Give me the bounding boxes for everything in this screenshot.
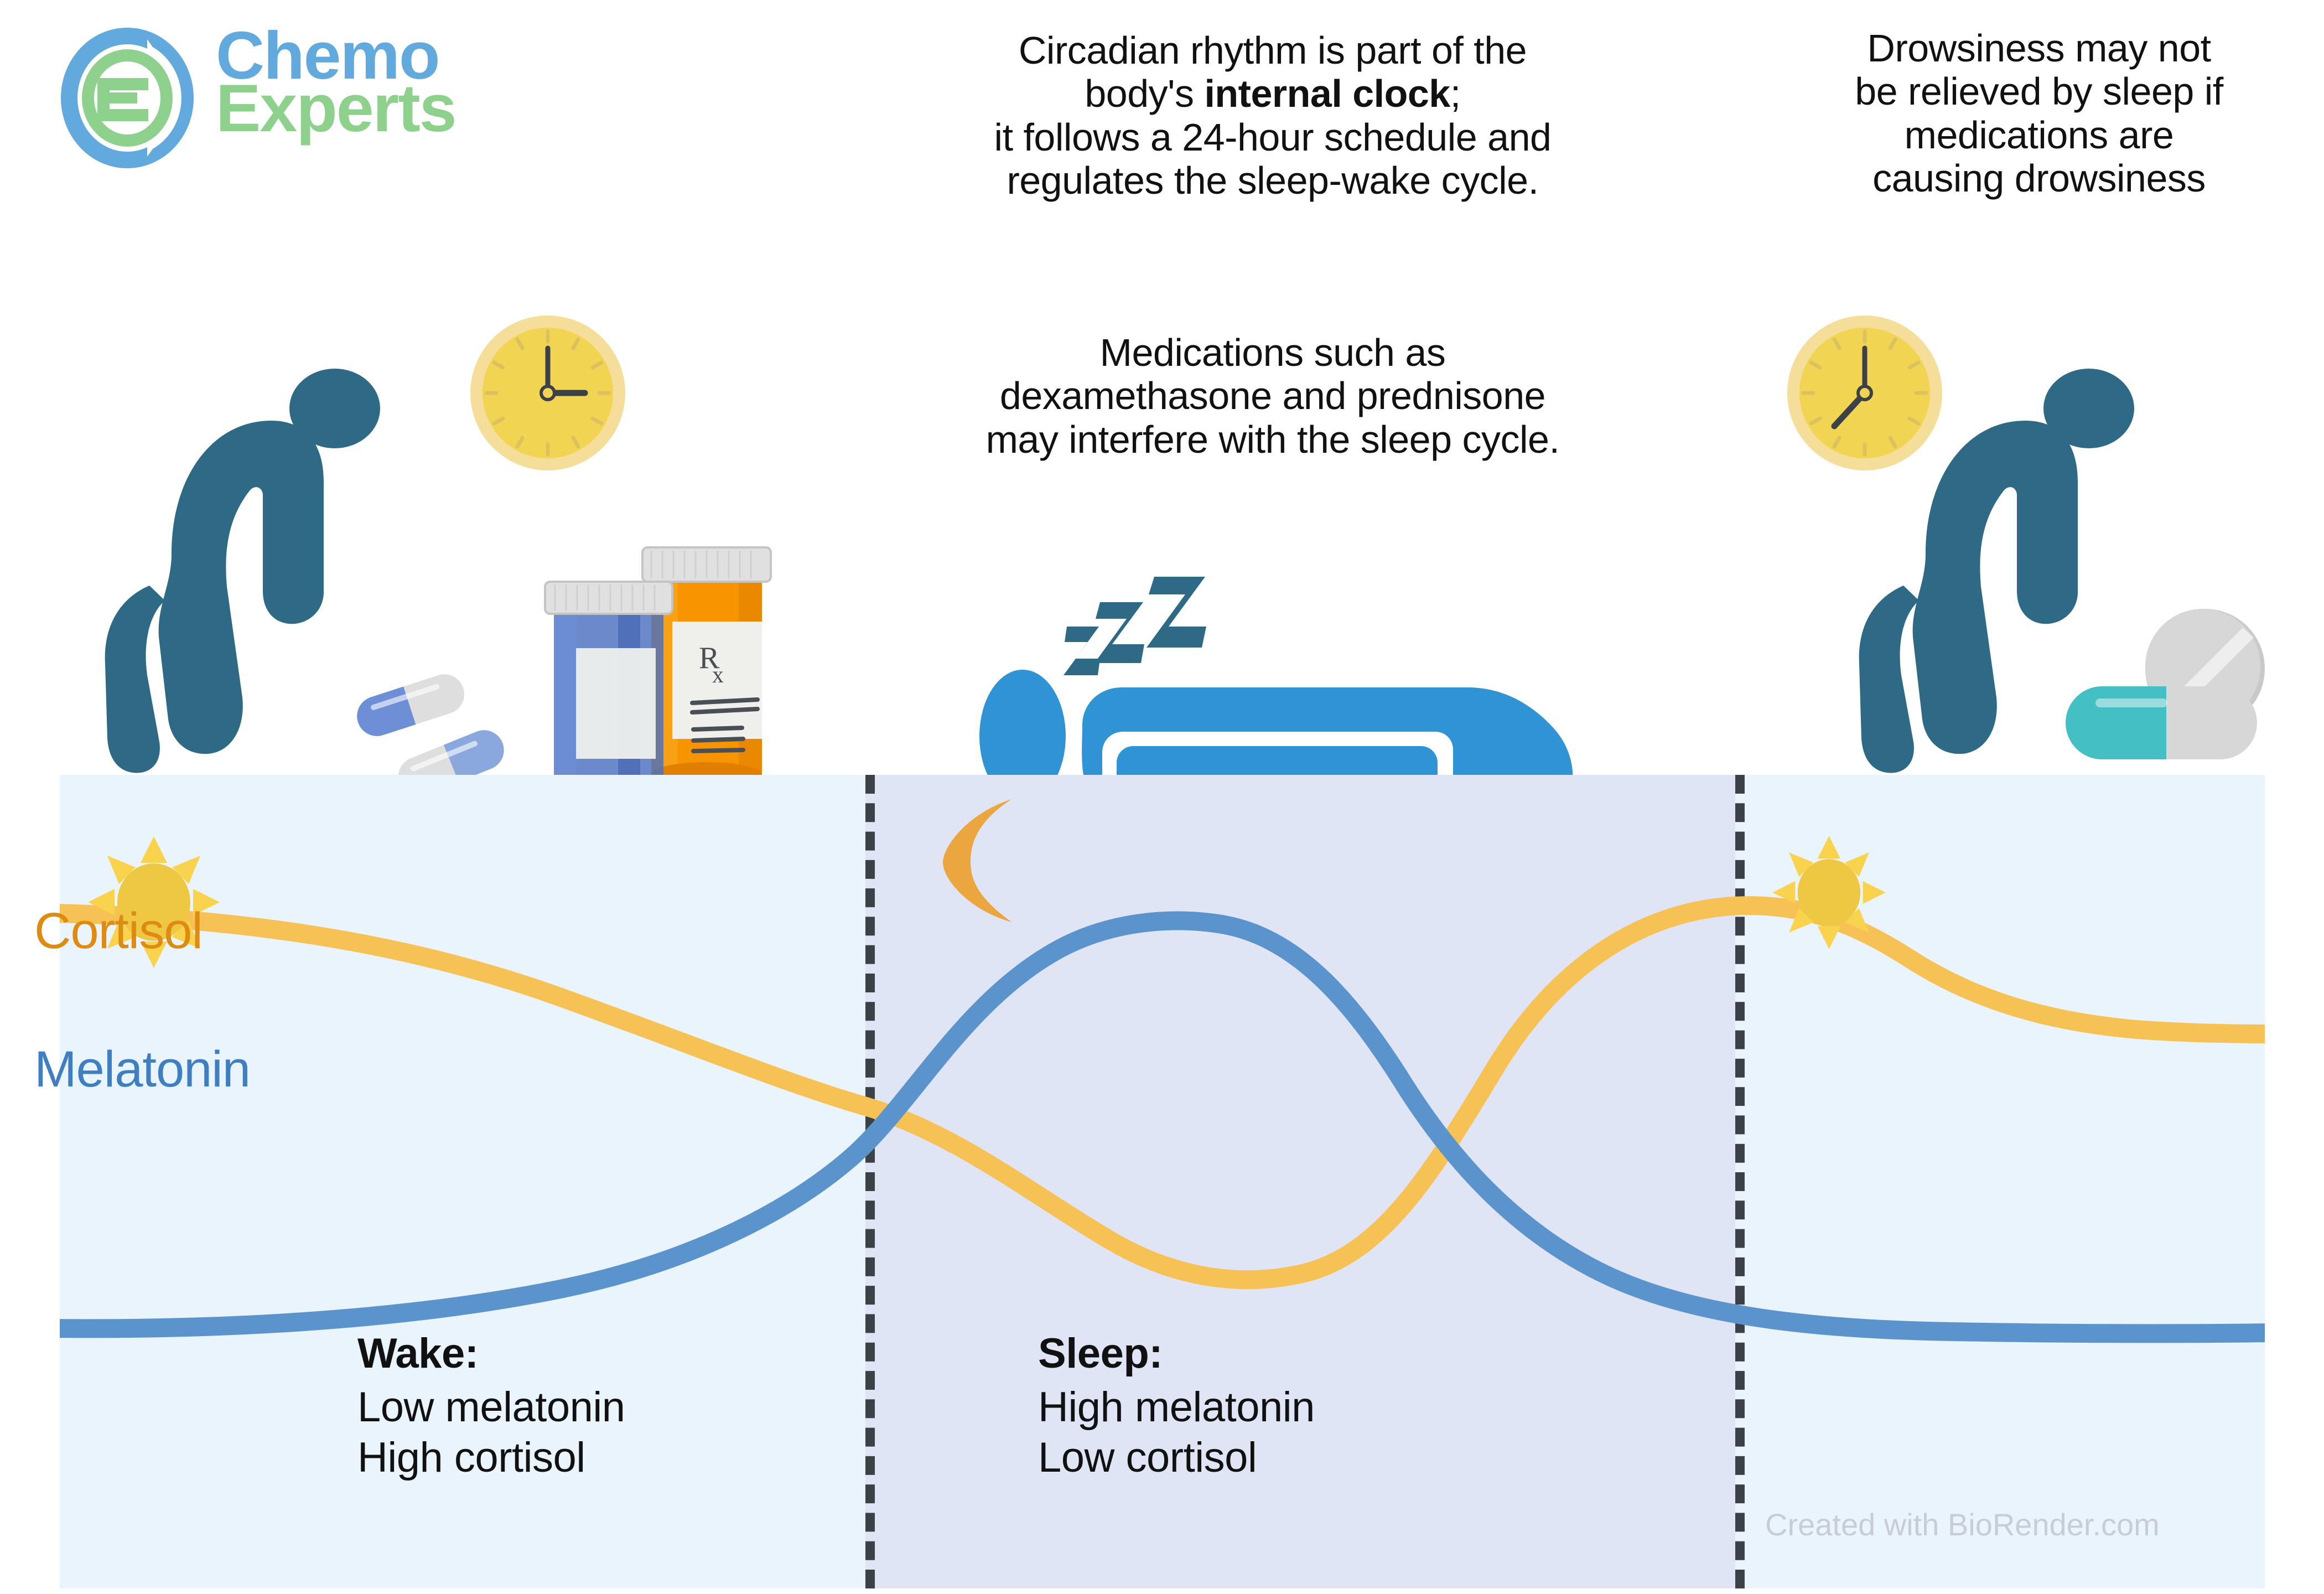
- wake-title: Wake:: [357, 1328, 625, 1379]
- header-paragraph-medications: Medications such as dexamethasone and pr…: [852, 331, 1693, 461]
- header-emphasis-internal-clock: internal clock: [1204, 72, 1450, 115]
- wake-line-1: Low melatonin: [357, 1382, 625, 1432]
- legend-label-melatonin: Melatonin: [34, 1041, 250, 1099]
- teal-white-capsule-icon: [2066, 686, 2257, 759]
- sleeping-person-icon: [974, 576, 1599, 808]
- logo-line-experts: Experts: [216, 79, 456, 138]
- sleep-title: Sleep:: [1038, 1328, 1315, 1379]
- header-line: body's internal clock;: [852, 72, 1693, 115]
- chemoexperts-ce-monogram-icon: [44, 25, 210, 174]
- header-line: Drowsiness may not: [1754, 27, 2324, 70]
- header-line: Medications such as: [852, 331, 1693, 374]
- legend-label-cortisol: Cortisol: [34, 902, 203, 960]
- header-line-post: ;: [1450, 72, 1461, 115]
- sleep-line-2: Low cortisol: [1038, 1432, 1315, 1483]
- crescent-moon-icon: [928, 797, 1034, 924]
- cortisol-curve: [60, 905, 2265, 1280]
- sun-icon: [1770, 833, 1889, 952]
- sleep-line-1: High melatonin: [1038, 1382, 1315, 1432]
- header-line: regulates the sleep-wake cycle.: [852, 159, 1693, 202]
- header-paragraph-drowsiness: Drowsiness may not be relieved by sleep …: [1754, 27, 2324, 200]
- header-line: may interfere with the sleep cycle.: [852, 418, 1693, 461]
- header-line: causing drowsiness: [1754, 157, 2324, 200]
- wake-line-2: High cortisol: [357, 1432, 625, 1483]
- header-line: medications are: [1754, 113, 2324, 157]
- clock-icon: [1784, 313, 1945, 473]
- svg-text:x: x: [712, 663, 724, 688]
- zzz-sleep-icon: [1064, 577, 1206, 675]
- header-line: Circadian rhythm is part of the: [852, 29, 1693, 72]
- biorender-credit: Created with BioRender.com: [1765, 1507, 2160, 1543]
- header-paragraph-circadian: Circadian rhythm is part of the body's i…: [852, 29, 1693, 203]
- wake-state-block: Wake: Low melatonin High cortisol: [357, 1328, 625, 1483]
- header-line: dexamethasone and prednisone: [852, 374, 1693, 417]
- header-line: be relieved by sleep if: [1754, 70, 2324, 113]
- clock-icon: [468, 313, 628, 473]
- sleep-state-block: Sleep: High melatonin Low cortisol: [1038, 1328, 1315, 1483]
- header-line-pre: body's: [1085, 72, 1204, 115]
- logo-wordmark: Chemo Experts: [216, 26, 456, 138]
- chemoexperts-logo[interactable]: Chemo Experts: [44, 25, 531, 174]
- header-line: it follows a 24-hour schedule and: [852, 116, 1693, 159]
